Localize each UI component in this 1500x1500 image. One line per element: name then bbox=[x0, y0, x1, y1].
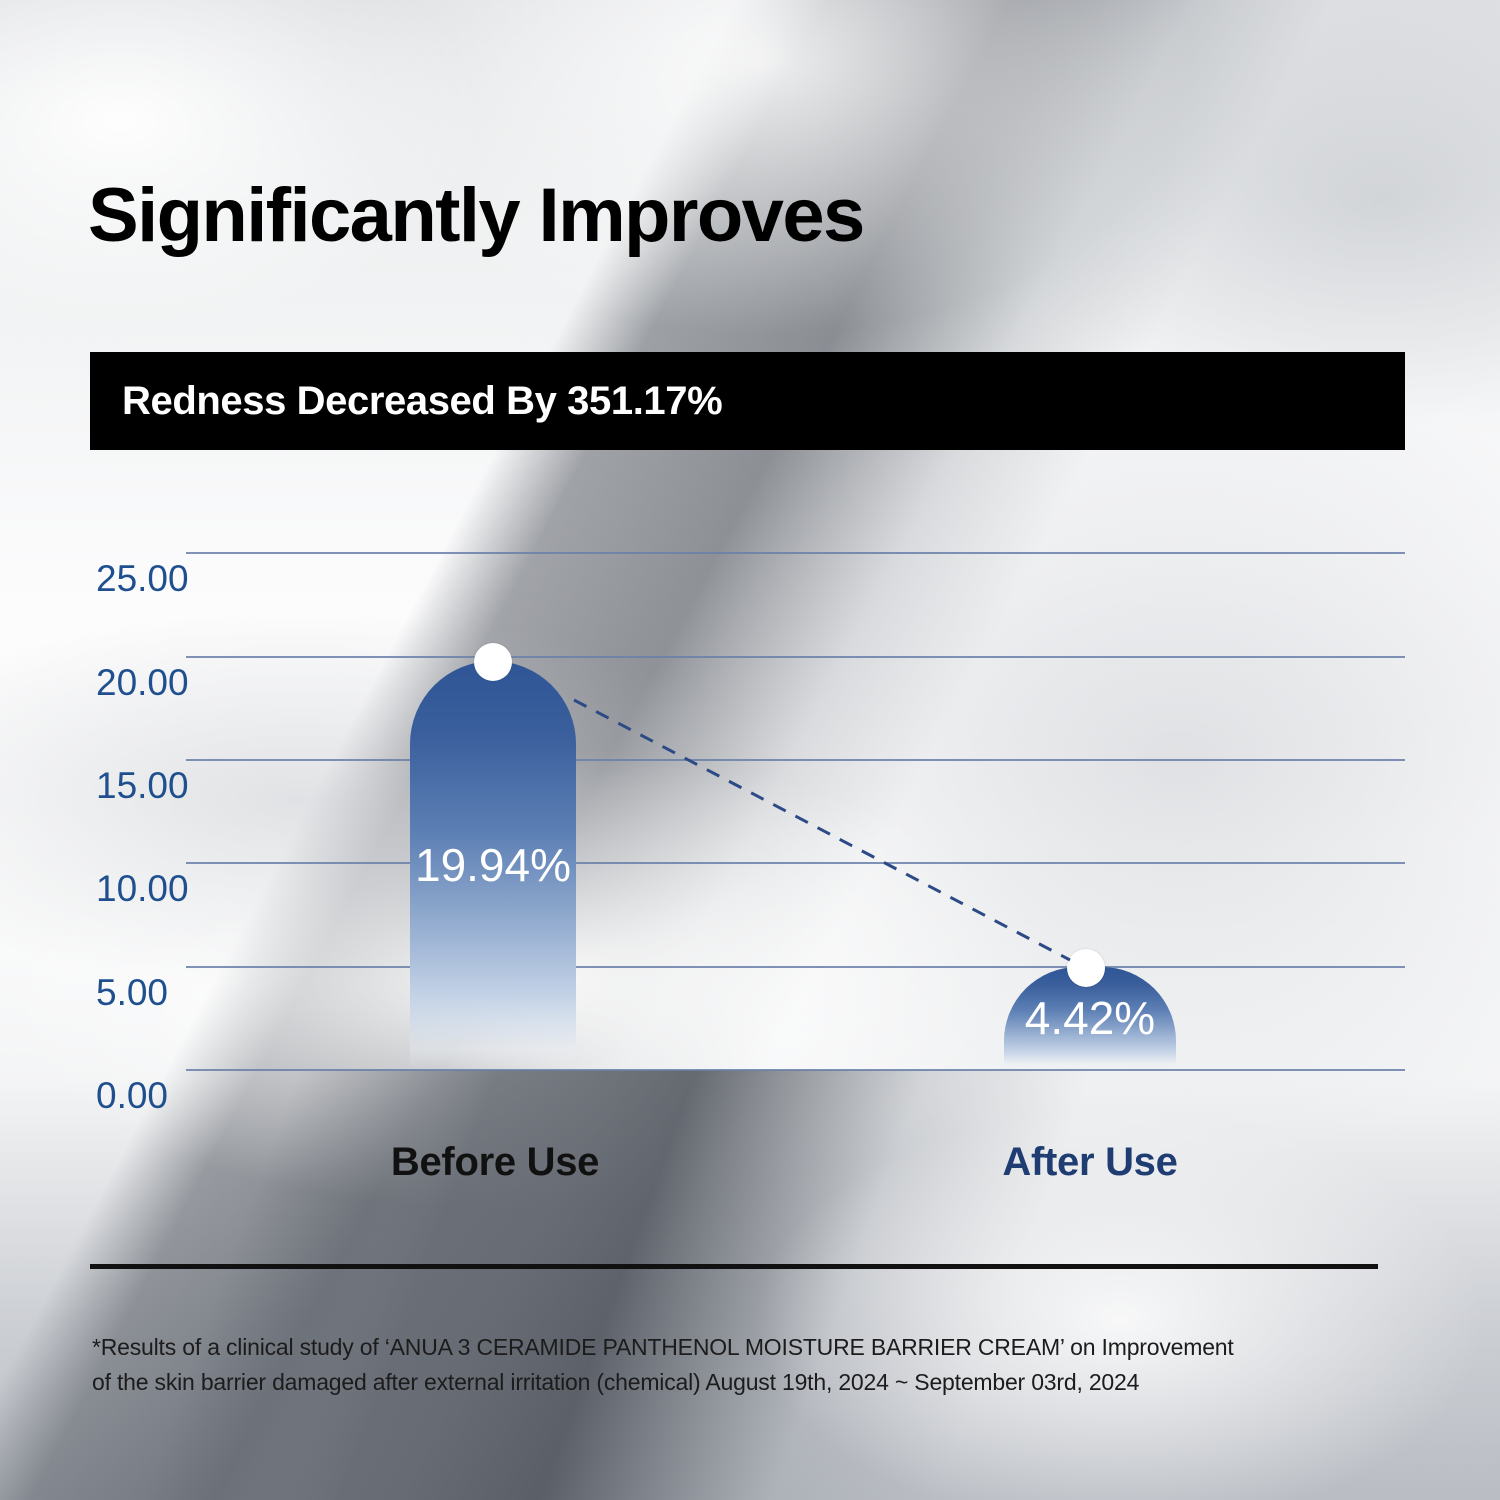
footnote: *Results of a clinical study of ‘ANUA 3 … bbox=[92, 1330, 1422, 1399]
footnote-line-1: *Results of a clinical study of ‘ANUA 3 … bbox=[92, 1330, 1422, 1365]
footer-divider bbox=[90, 1264, 1378, 1269]
headline-line-1: Significantly Improves bbox=[88, 173, 864, 258]
footnote-line-2: of the skin barrier damaged after extern… bbox=[92, 1365, 1422, 1400]
status-banner-label: Redness Decreased By 351.17% bbox=[90, 379, 722, 424]
infographic-canvas: Significantly Improves Skin Moisture Bar… bbox=[0, 0, 1500, 1500]
status-banner: Redness Decreased By 351.17% bbox=[90, 352, 1405, 450]
